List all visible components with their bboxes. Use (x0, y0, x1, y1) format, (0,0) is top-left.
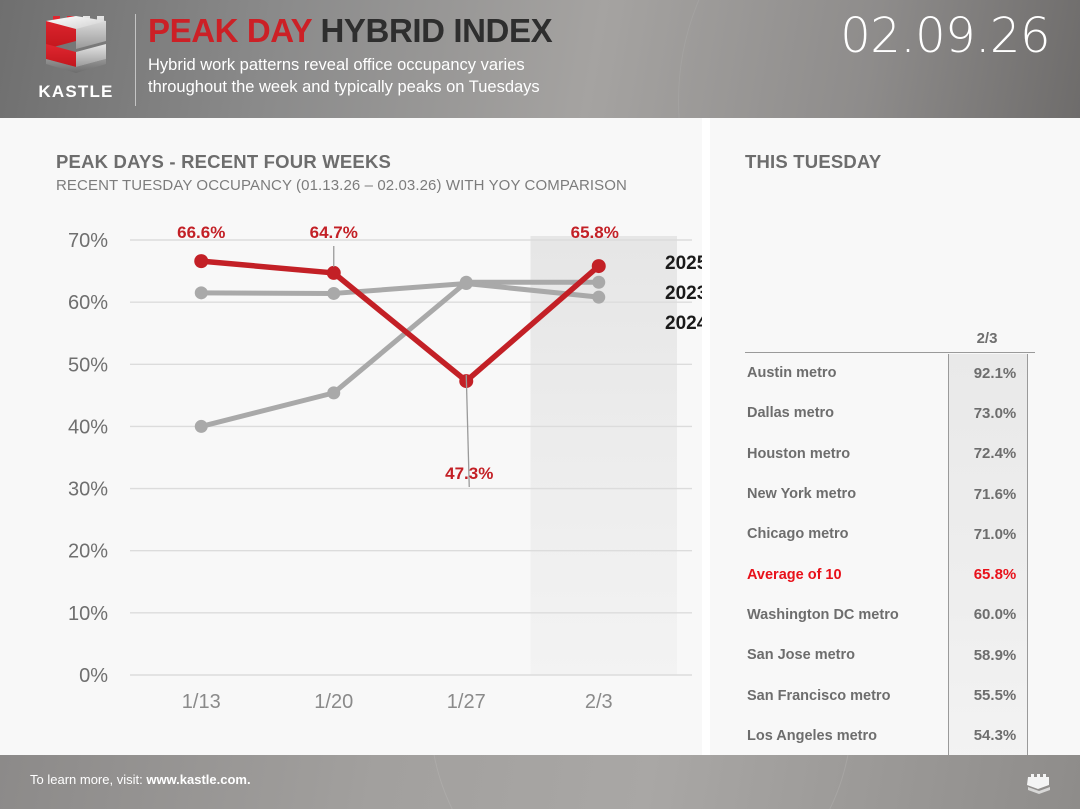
chart-svg: 0%10%20%30%40%50%60%70% 1/131/201/272/3 … (0, 118, 702, 755)
data-point-2023-1/20 (327, 386, 340, 399)
metro-name: Washington DC metro (745, 607, 899, 623)
metro-name: Austin metro (745, 365, 836, 381)
table-row: Chicago metro71.0% (745, 514, 1035, 554)
table-row: Houston metro72.4% (745, 434, 1035, 474)
footer-link[interactable]: www.kastle.com. (146, 772, 250, 787)
data-point-2024-1/20 (327, 287, 340, 300)
header-subtitle-line-1: Hybrid work patterns reveal office occup… (148, 55, 552, 76)
metro-occupancy-value: 71.6% (955, 486, 1035, 503)
data-label-2/3: 65.8% (571, 223, 619, 242)
y-axis-tick-label: 70% (68, 230, 108, 252)
table-header-row: 2/3 (745, 330, 1035, 352)
data-label-1/20: 64.7% (310, 223, 358, 242)
y-axis-tick-label: 60% (68, 292, 108, 314)
data-point-2025-1/20 (327, 266, 341, 280)
metro-name: Houston metro (745, 446, 850, 462)
metro-occupancy-value: 55.5% (955, 687, 1035, 704)
metro-occupancy-value: 58.9% (955, 647, 1035, 664)
y-axis-tick-label: 30% (68, 479, 108, 501)
metro-occupancy-value: 54.3% (955, 727, 1035, 744)
metro-name: New York metro (745, 486, 856, 502)
data-point-2023-1/13 (195, 420, 208, 433)
legend-label-2023: 2023 (665, 283, 702, 304)
y-axis-tick-label: 20% (68, 541, 108, 563)
metro-occupancy-value: 60.0% (955, 606, 1035, 623)
metro-name: San Francisco metro (745, 688, 890, 704)
data-point-2024-1/27 (460, 277, 473, 290)
chart-panel: PEAK DAYS - RECENT FOUR WEEKS RECENT TUE… (0, 118, 702, 755)
metro-name: Chicago metro (745, 526, 849, 542)
data-label-1/13: 66.6% (177, 223, 225, 242)
header-text-block: PEAK DAY HYBRID INDEX Hybrid work patter… (148, 14, 552, 98)
y-axis-tick-label: 0% (79, 665, 108, 687)
metro-name: Average of 10 (745, 567, 842, 583)
chart-x-axis-labels: 1/131/201/272/3 (182, 691, 613, 713)
chart-legend: 202520232024 (665, 253, 702, 334)
data-label-1/27: 47.3% (445, 464, 493, 483)
table-row: Austin metro92.1% (745, 353, 1035, 393)
x-axis-tick-label: 1/27 (447, 691, 486, 713)
table-row: Average of 1065.8% (745, 554, 1035, 594)
table-row: Los Angeles metro54.3% (745, 716, 1035, 756)
x-axis-tick-label: 2/3 (585, 691, 613, 713)
table-row: San Jose metro58.9% (745, 635, 1035, 675)
metro-occupancy-value: 73.0% (955, 405, 1035, 422)
data-point-2025-2/3 (592, 259, 606, 273)
y-axis-tick-label: 50% (68, 354, 108, 376)
page-title: PEAK DAY HYBRID INDEX (148, 14, 552, 49)
logo-wordmark: KASTLE (38, 82, 113, 102)
legend-label-2024: 2024 (665, 313, 702, 334)
page-title-main: HYBRID INDEX (320, 12, 552, 49)
body-area: PEAK DAYS - RECENT FOUR WEEKS RECENT TUE… (0, 118, 1080, 755)
metro-name: San Jose metro (745, 647, 855, 663)
data-point-2025-1/13 (194, 254, 208, 268)
table-column-header-date: 2/3 (947, 330, 1027, 347)
report-date: 02.09.26 (840, 8, 1050, 64)
table-body: Austin metro92.1%Dallas metro73.0%Housto… (745, 353, 1035, 796)
data-point-2024-1/13 (195, 286, 208, 299)
infographic-root: KASTLE PEAK DAY HYBRID INDEX Hybrid work… (0, 0, 1080, 809)
y-axis-tick-label: 40% (68, 416, 108, 438)
metro-occupancy-value: 72.4% (955, 445, 1035, 462)
page-title-accent: PEAK DAY (148, 12, 312, 49)
y-axis-tick-label: 10% (68, 603, 108, 625)
footer-prefix: To learn more, visit: (30, 772, 146, 787)
metro-name: Dallas metro (745, 405, 834, 421)
castle-logo-icon (36, 8, 116, 80)
data-point-2024-2/3 (592, 291, 605, 304)
metro-occupancy-table: 2/3 Austin metro92.1%Dallas metro73.0%Ho… (745, 330, 1035, 796)
legend-label-2025: 2025 (665, 253, 702, 274)
page-header: KASTLE PEAK DAY HYBRID INDEX Hybrid work… (0, 0, 1080, 118)
table-row: New York metro71.6% (745, 474, 1035, 514)
x-axis-tick-label: 1/20 (314, 691, 353, 713)
footer-castle-icon (1024, 767, 1054, 797)
metro-occupancy-value: 71.0% (955, 526, 1035, 543)
metro-occupancy-value: 65.8% (955, 566, 1035, 583)
table-row: Washington DC metro60.0% (745, 595, 1035, 635)
peak-days-line-chart: 0%10%20%30%40%50%60%70% 1/131/201/272/3 … (0, 118, 702, 755)
chart-y-axis-labels: 0%10%20%30%40%50%60%70% (68, 230, 108, 687)
table-row: Dallas metro73.0% (745, 393, 1035, 433)
metro-occupancy-value: 92.1% (955, 365, 1035, 382)
panel-separator (702, 118, 710, 755)
page-footer: To learn more, visit: www.kastle.com. (0, 755, 1080, 809)
header-subtitle-line-2: throughout the week and typically peaks … (148, 77, 552, 98)
kastle-logo: KASTLE (22, 8, 130, 112)
x-axis-tick-label: 1/13 (182, 691, 221, 713)
data-point-2023-2/3 (592, 276, 605, 289)
table-row: San Francisco metro55.5% (745, 675, 1035, 715)
table-panel-title: THIS TUESDAY (745, 151, 881, 173)
metro-name: Los Angeles metro (745, 728, 877, 744)
footer-text: To learn more, visit: www.kastle.com. (30, 772, 251, 787)
header-divider (135, 14, 136, 106)
